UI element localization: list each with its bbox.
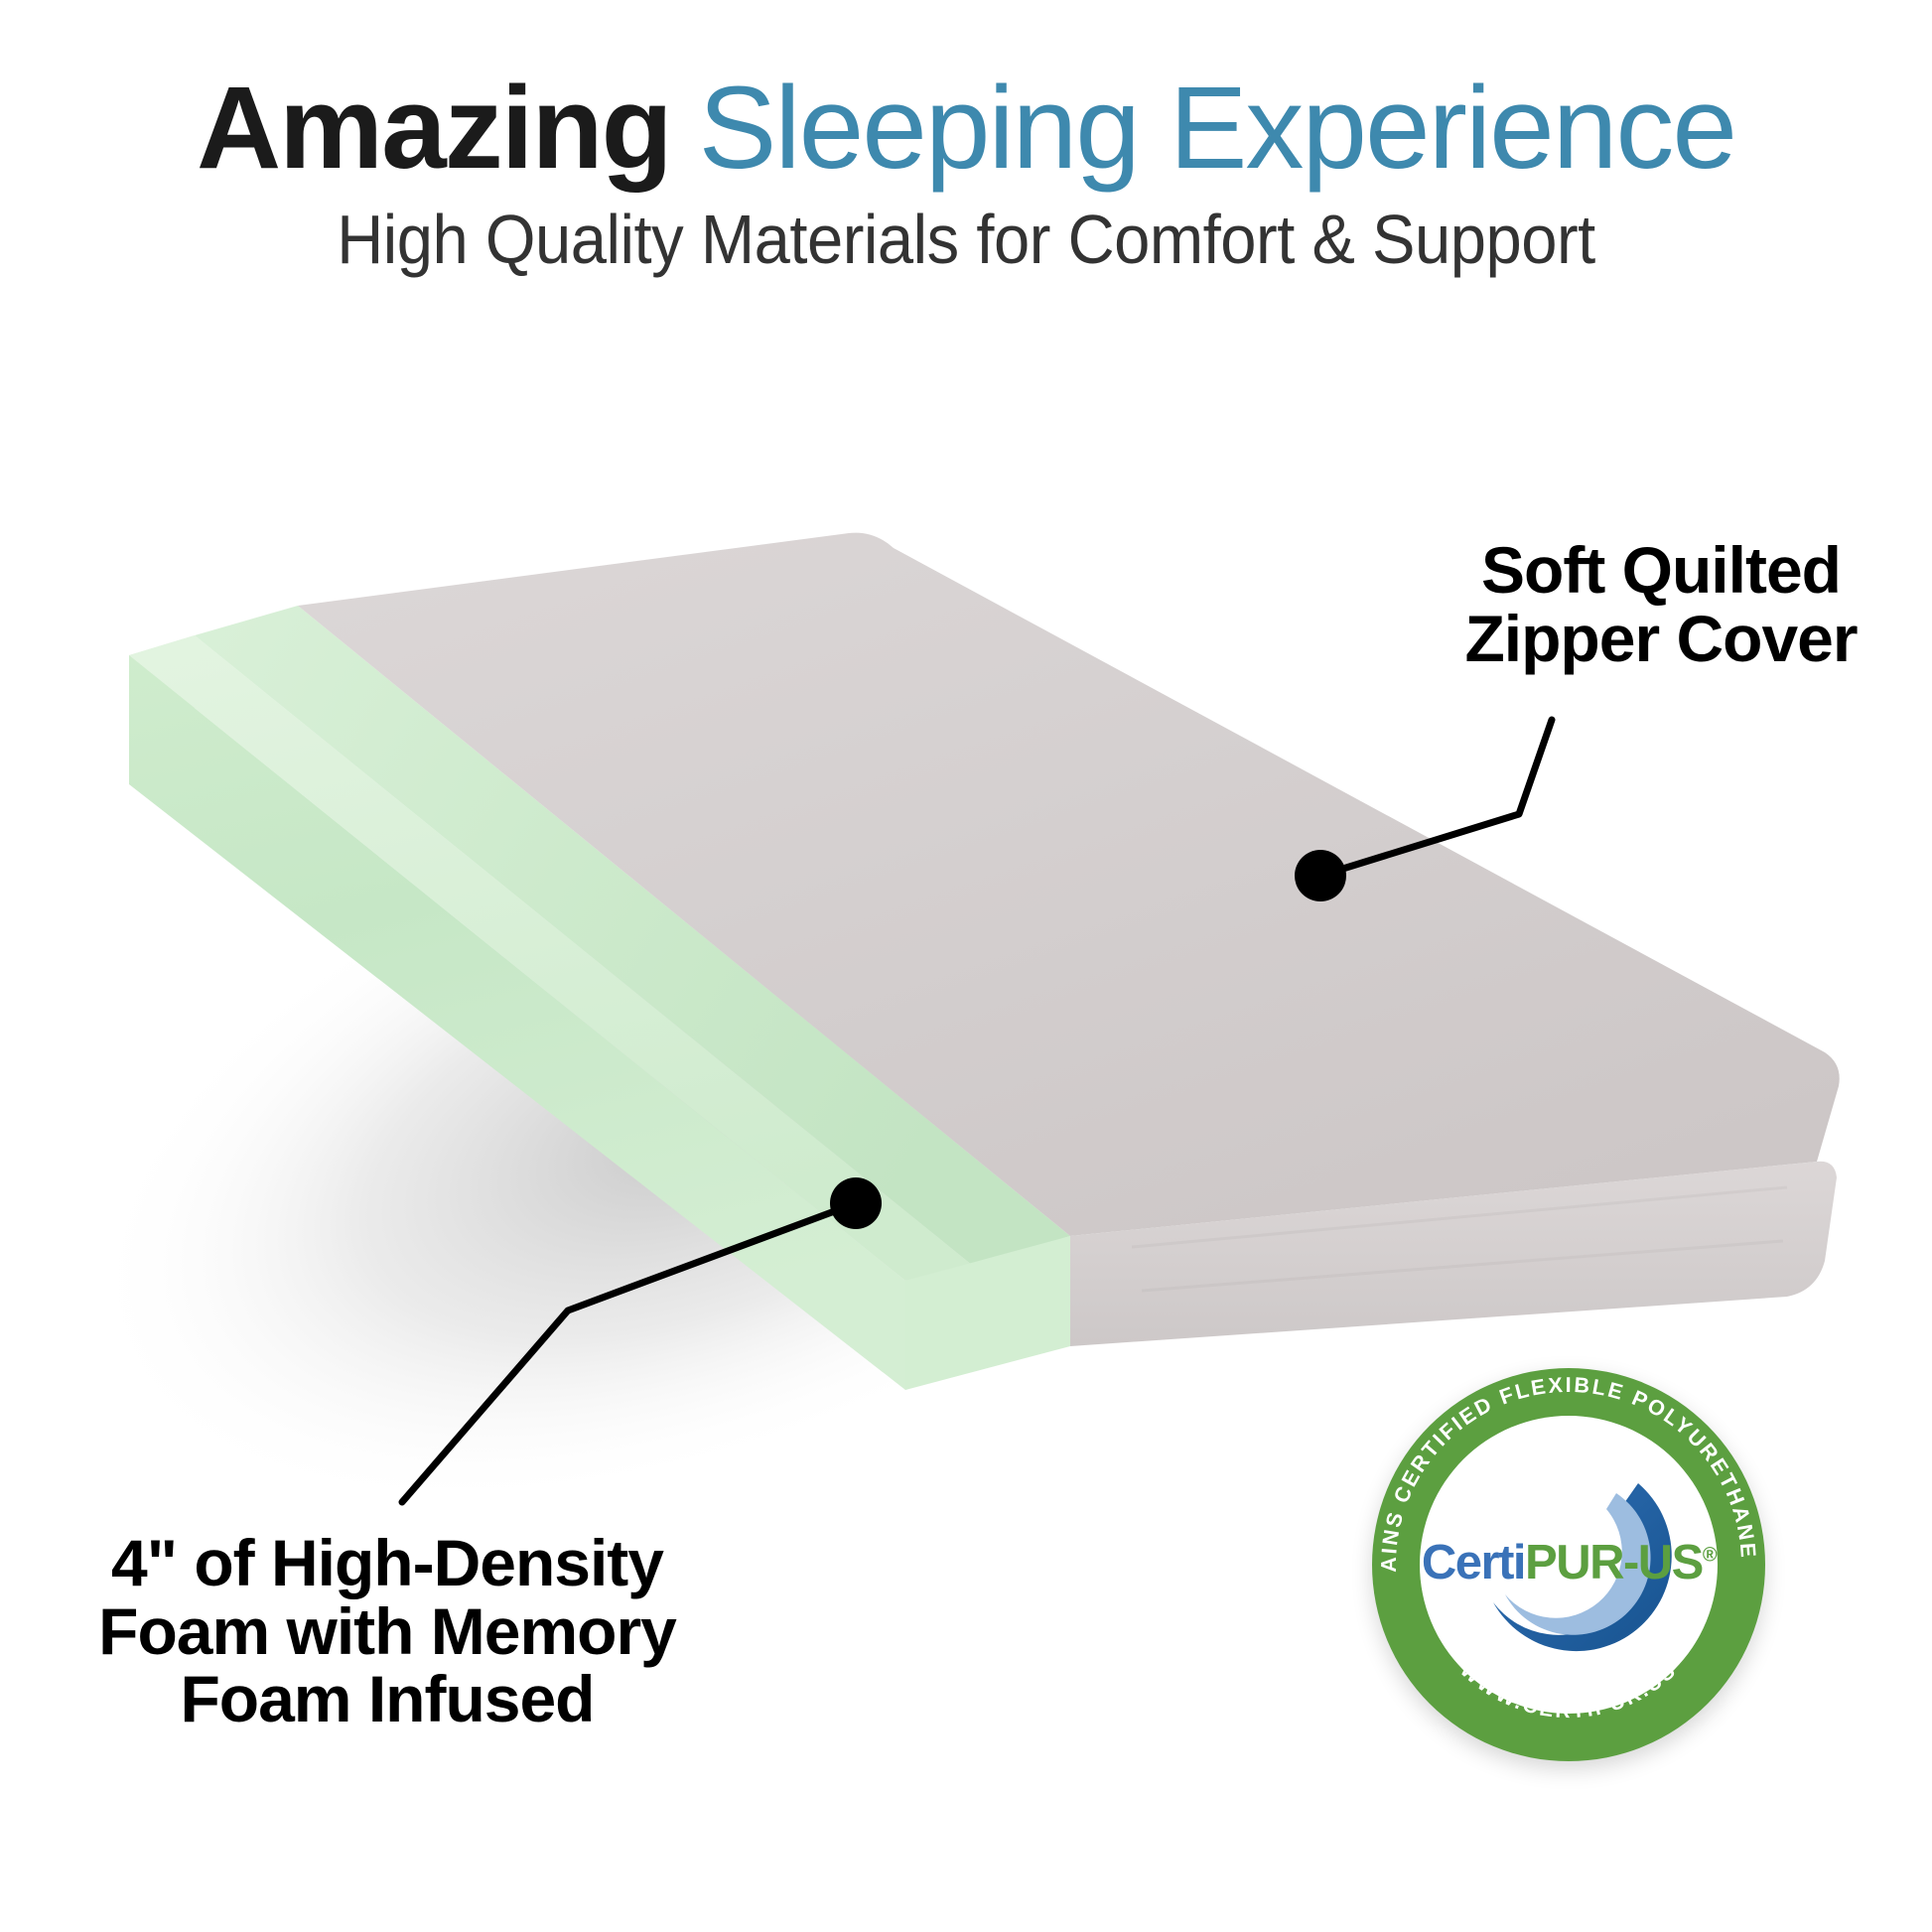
badge-wordmark-pur: PUR-US xyxy=(1525,1536,1703,1589)
callout-foam-line3: Foam Infused xyxy=(40,1665,735,1733)
callout-foam-line2: Foam with Memory xyxy=(40,1597,735,1666)
infographic-canvas: AmazingSleeping Experience High Quality … xyxy=(0,0,1932,1932)
headline-strong: Amazing xyxy=(197,63,671,194)
badge-ring-text-bottom: WWW.CERTIPUR.US xyxy=(1455,1658,1682,1723)
cover-side-band xyxy=(1070,1162,1837,1346)
callout-dot-foam xyxy=(830,1177,882,1229)
leader-line-cover xyxy=(1295,720,1552,901)
foam-right-end-face xyxy=(905,1236,1070,1390)
foam-top-lip xyxy=(129,635,973,1281)
callout-label-foam: 4" of High-Density Foam with Memory Foam… xyxy=(40,1529,735,1733)
page-subtitle: High Quality Materials for Comfort & Sup… xyxy=(68,202,1864,278)
certipur-us-badge: CONTAINS CERTIFIED FLEXIBLE POLYURETHANE… xyxy=(1372,1368,1765,1761)
callout-label-cover: Soft Quilted Zipper Cover xyxy=(1390,536,1932,672)
callout-cover-line1: Soft Quilted xyxy=(1390,536,1932,605)
cover-quilting-lines xyxy=(1132,1187,1787,1291)
headline-accent: Sleeping Experience xyxy=(699,63,1735,194)
badge-wordmark: CertiPUR-US® xyxy=(1372,1535,1765,1590)
foam-left-end-face xyxy=(129,635,195,784)
callout-foam-line1: 4" of High-Density xyxy=(40,1529,735,1597)
callout-dot-cover xyxy=(1295,850,1346,901)
page-title: AmazingSleeping Experience xyxy=(0,66,1932,192)
badge-registered-mark: ® xyxy=(1703,1545,1716,1567)
foam-front-face xyxy=(129,655,905,1390)
leader-line-foam xyxy=(402,1177,882,1502)
foam-upper-facet xyxy=(195,606,1070,1266)
callout-cover-line2: Zipper Cover xyxy=(1390,605,1932,673)
header-block: AmazingSleeping Experience High Quality … xyxy=(0,66,1932,278)
product-shadow xyxy=(0,607,1404,1657)
badge-wordmark-certi: Certi xyxy=(1422,1536,1525,1589)
